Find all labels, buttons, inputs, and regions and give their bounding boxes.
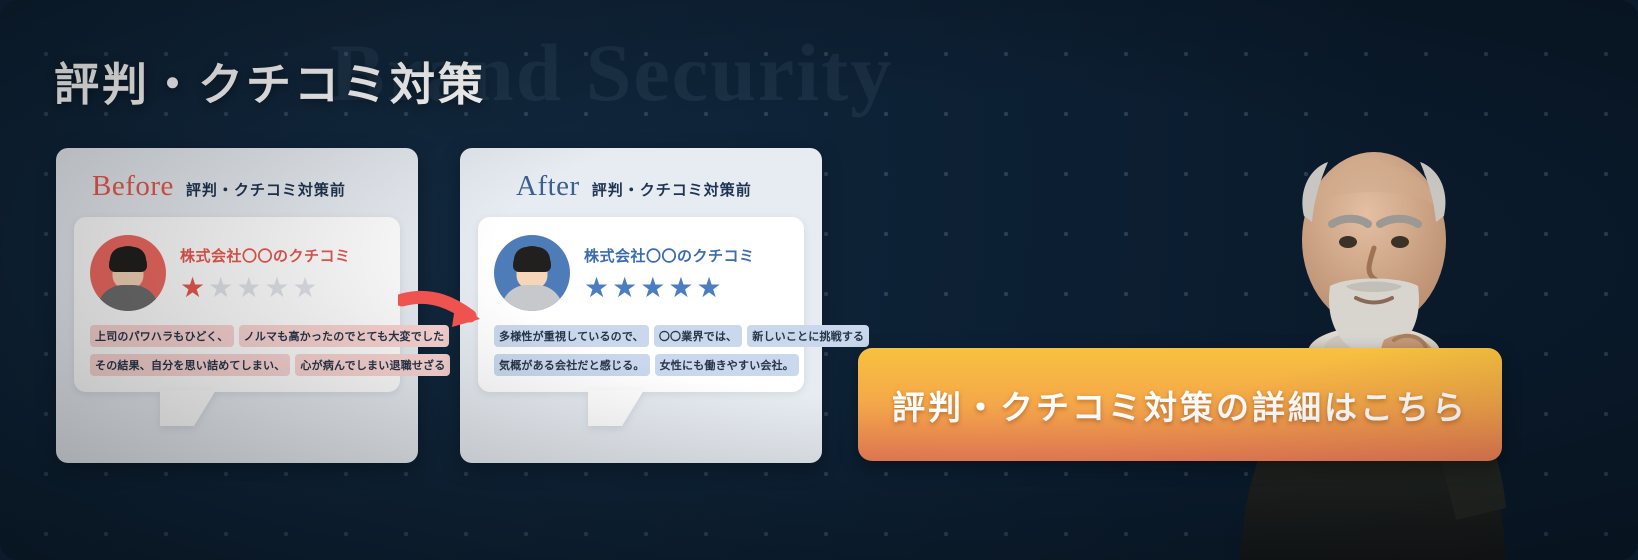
star-icon: ★ — [696, 274, 721, 302]
after-star-rating: ★★★★★ — [584, 274, 755, 302]
before-panel: Before 評判・クチコミ対策前 株式会社〇〇のクチコミ ★★★★★ 上司のパ… — [56, 148, 418, 463]
before-review-body: 上司のパワハラもひどく、ノルマも高かったのでとても大変でしたその結果、自分を思い… — [90, 325, 384, 376]
after-review-header: 株式会社〇〇のクチコミ ★★★★★ — [494, 235, 788, 311]
review-text-chunk: 上司のパワハラもひどく、 — [90, 325, 234, 347]
review-text-chunk: 心が病んでしまい退職せざる — [295, 354, 450, 376]
before-subtitle: 評判・クチコミ対策前 — [186, 179, 346, 200]
before-review-title: 株式会社〇〇のクチコミ — [180, 245, 351, 266]
star-icon: ★ — [668, 274, 693, 302]
review-text-chunk: 〇〇業界では、 — [654, 325, 742, 347]
after-review-meta: 株式会社〇〇のクチコミ ★★★★★ — [584, 245, 755, 302]
curved-arrow-icon — [398, 286, 494, 342]
review-text-line: 上司のパワハラもひどく、ノルマも高かったのでとても大変でした — [90, 325, 384, 347]
review-text-line: その結果、自分を思い詰めてしまい、心が病んでしまい退職せざる — [90, 354, 384, 376]
review-text-chunk: 多様性が重視しているので、 — [494, 325, 649, 347]
star-icon: ★ — [236, 274, 261, 302]
star-icon: ★ — [264, 274, 289, 302]
review-text-chunk: その結果、自分を思い詰めてしまい、 — [90, 354, 290, 376]
review-text-line: 気概がある会社だと感じる。女性にも働きやすい会社。 — [494, 354, 788, 376]
after-review-card: 株式会社〇〇のクチコミ ★★★★★ 多様性が重視しているので、〇〇業界では、新し… — [478, 217, 804, 392]
before-star-rating: ★★★★★ — [180, 274, 351, 302]
after-badge: After — [516, 170, 580, 203]
avatar — [494, 235, 570, 311]
promo-banner: Brand Security 評判・クチコミ対策 Before 評判・クチコミ対… — [0, 0, 1638, 560]
review-text-line: 多様性が重視しているので、〇〇業界では、新しいことに挑戦する — [494, 325, 788, 347]
after-panel: After 評判・クチコミ対策前 株式会社〇〇のクチコミ ★★★★★ 多様性が重… — [460, 148, 822, 463]
star-icon: ★ — [180, 274, 205, 302]
before-panel-header: Before 評判・クチコミ対策前 — [56, 148, 418, 203]
star-icon: ★ — [612, 274, 637, 302]
before-badge: Before — [92, 170, 174, 203]
cta-button[interactable]: 評判・クチコミ対策の詳細はこちら — [858, 348, 1502, 461]
after-panel-header: After 評判・クチコミ対策前 — [460, 148, 822, 203]
after-review-body: 多様性が重視しているので、〇〇業界では、新しいことに挑戦する気概がある会社だと感… — [494, 325, 788, 376]
review-text-chunk: 女性にも働きやすい会社。 — [655, 354, 799, 376]
star-icon: ★ — [292, 274, 317, 302]
before-review-card: 株式会社〇〇のクチコミ ★★★★★ 上司のパワハラもひどく、ノルマも高かったので… — [74, 217, 400, 392]
cta-button-label: 評判・クチコミ対策の詳細はこちら — [892, 381, 1468, 429]
speech-bubble-tail — [160, 390, 216, 426]
before-review-header: 株式会社〇〇のクチコミ ★★★★★ — [90, 235, 384, 311]
after-review-title: 株式会社〇〇のクチコミ — [584, 245, 755, 266]
avatar — [90, 235, 166, 311]
star-icon: ★ — [640, 274, 665, 302]
page-title: 評判・クチコミ対策 — [54, 48, 486, 113]
speech-bubble-tail — [588, 390, 644, 426]
review-text-chunk: 気概がある会社だと感じる。 — [494, 354, 650, 376]
star-icon: ★ — [584, 274, 609, 302]
after-subtitle: 評判・クチコミ対策前 — [592, 179, 752, 200]
review-text-chunk: 新しいことに挑戦する — [747, 325, 869, 347]
bearded-man-thinking-photo — [1188, 90, 1548, 560]
star-icon: ★ — [208, 274, 233, 302]
before-review-meta: 株式会社〇〇のクチコミ ★★★★★ — [180, 245, 351, 302]
